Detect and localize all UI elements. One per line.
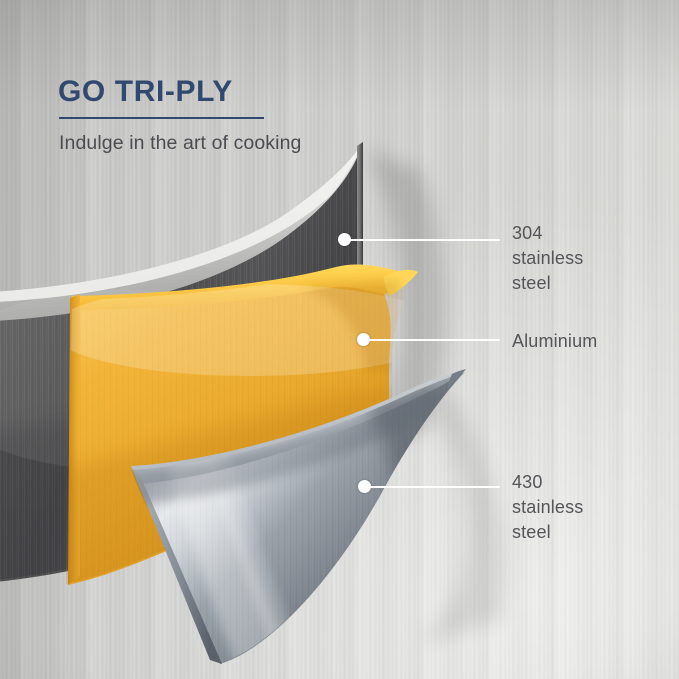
page-title: GO TRI-PLY: [58, 76, 358, 108]
callout-label-aluminium: Aluminium: [512, 329, 597, 354]
leader-line: [368, 486, 500, 488]
page-subtitle: Indulge in the art of cooking: [59, 130, 358, 158]
headline-block: GO TRI-PLY Indulge in the art of cooking: [58, 76, 358, 157]
leader-line: [367, 339, 500, 341]
leader-line: [348, 239, 500, 241]
callout-label-304: 304 stainless steel: [512, 221, 583, 295]
callout-label-430: 430 stainless steel: [512, 470, 583, 544]
infographic-canvas: GO TRI-PLY Indulge in the art of cooking…: [0, 0, 679, 679]
title-divider: [59, 117, 264, 119]
